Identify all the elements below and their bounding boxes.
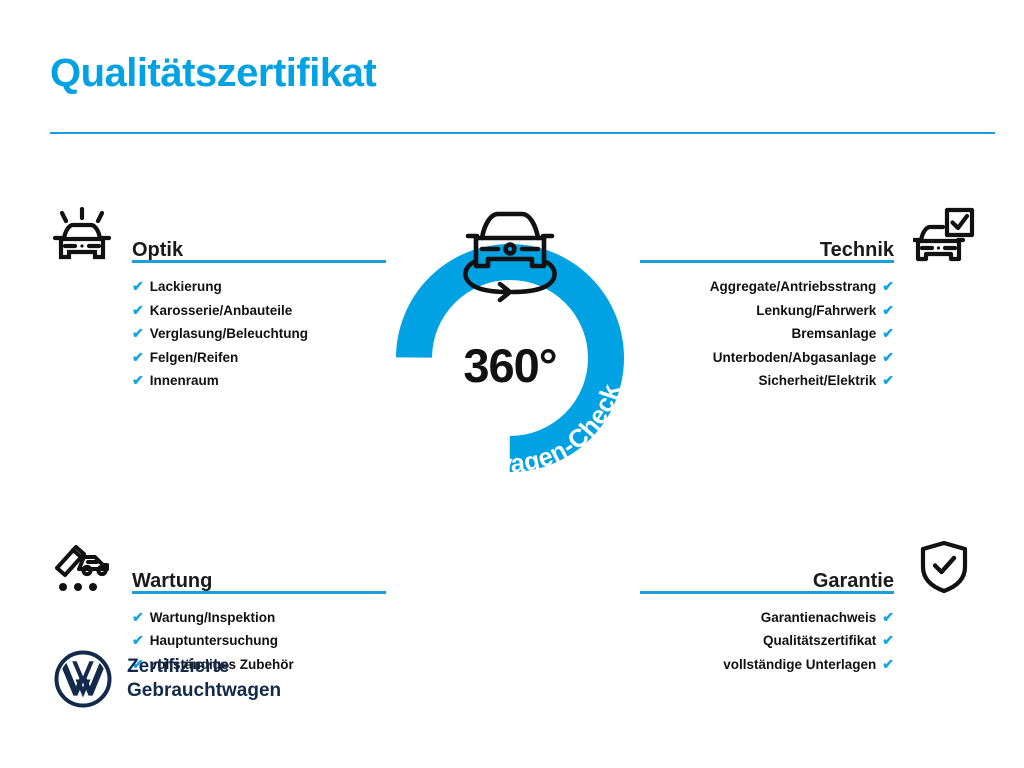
list-item: ✔ Innenraum: [132, 369, 386, 393]
brand-text: Zertifizierte Gebrauchtwagen: [127, 655, 281, 703]
list-item-label: Karosserie/Anbauteile: [150, 299, 293, 323]
list-item-label: vollständige Unterlagen: [723, 653, 876, 677]
list-item: Garantienachweis ✔: [640, 606, 894, 630]
list-item-label: Sicherheit/Elektrik: [758, 369, 876, 393]
check-icon: ✔: [132, 369, 144, 393]
car-front-checkbox-icon: [908, 205, 980, 267]
list-item: Bremsanlage ✔: [640, 322, 894, 346]
list-item: Lenkung/Fahrwerk ✔: [640, 299, 894, 323]
list-item-label: Lackierung: [150, 275, 222, 299]
list-item: Sicherheit/Elektrik ✔: [640, 369, 894, 393]
volkswagen-logo-icon: [54, 650, 112, 708]
badge-360-gebrauchtwagen-check: Gebrauchtwagen-Check 360°: [370, 190, 650, 490]
list-item-label: Garantienachweis: [761, 606, 877, 630]
section-header-technik: Technik: [640, 205, 894, 261]
shield-check-icon: [908, 536, 980, 598]
list-item-label: Wartung/Inspektion: [150, 606, 276, 630]
checklist-garantie: Garantienachweis ✔ Qualitätszertifikat ✔…: [640, 606, 894, 677]
list-item-label: Unterboden/Abgasanlage: [713, 346, 877, 370]
section-header-wartung: Wartung: [132, 536, 386, 592]
header-divider: [50, 132, 995, 134]
list-item: vollständige Unterlagen ✔: [640, 653, 894, 677]
check-icon: ✔: [882, 606, 894, 630]
list-item: ✔ Lackierung: [132, 275, 386, 299]
check-icon: ✔: [132, 606, 144, 630]
section-divider: [640, 260, 894, 263]
list-item-label: Qualitätszertifikat: [763, 629, 876, 653]
section-title: Optik: [132, 205, 386, 261]
section-header-garantie: Garantie: [640, 536, 894, 592]
check-icon: ✔: [132, 346, 144, 370]
section-optik: Optik ✔ Lackierung ✔ Karosserie/Anbautei…: [46, 205, 386, 393]
check-icon: ✔: [132, 275, 144, 299]
section-technik: Technik Aggregate/Antriebsstrang ✔ Lenku…: [640, 205, 980, 393]
section-header-optik: Optik: [132, 205, 386, 261]
check-icon: ✔: [132, 299, 144, 323]
check-icon: ✔: [882, 653, 894, 677]
left-column: Optik ✔ Lackierung ✔ Karosserie/Anbautei…: [46, 205, 386, 676]
certificate-page: Qualitätszertifikat: [0, 0, 1024, 768]
check-icon: ✔: [132, 322, 144, 346]
check-icon: ✔: [132, 629, 144, 653]
brand-line-1: Zertifizierte: [127, 655, 281, 679]
list-item-label: Hauptuntersuchung: [150, 629, 278, 653]
badge-value: 360°: [370, 338, 650, 393]
list-item-label: Verglasung/Beleuchtung: [150, 322, 308, 346]
list-item: ✔ Verglasung/Beleuchtung: [132, 322, 386, 346]
checklist-optik: ✔ Lackierung ✔ Karosserie/Anbauteile ✔ V…: [132, 275, 386, 393]
check-icon: ✔: [882, 629, 894, 653]
list-item-label: Felgen/Reifen: [150, 346, 239, 370]
section-title: Wartung: [132, 536, 386, 592]
section-divider: [132, 591, 386, 594]
list-item-label: Bremsanlage: [791, 322, 876, 346]
section-divider: [132, 260, 386, 263]
list-item: Unterboden/Abgasanlage ✔: [640, 346, 894, 370]
right-column: Technik Aggregate/Antriebsstrang ✔ Lenku…: [640, 205, 980, 676]
list-item-label: Lenkung/Fahrwerk: [756, 299, 876, 323]
list-item: ✔ Felgen/Reifen: [132, 346, 386, 370]
list-item: Aggregate/Antriebsstrang ✔: [640, 275, 894, 299]
list-item: ✔ Karosserie/Anbauteile: [132, 299, 386, 323]
list-item: ✔ Hauptuntersuchung: [132, 629, 386, 653]
brand-line-2: Gebrauchtwagen: [127, 679, 281, 703]
checklist-technik: Aggregate/Antriebsstrang ✔ Lenkung/Fahrw…: [640, 275, 894, 393]
list-item-label: Aggregate/Antriebsstrang: [710, 275, 877, 299]
list-item: ✔ Wartung/Inspektion: [132, 606, 386, 630]
car-front-shine-icon: [46, 205, 118, 267]
list-item: Qualitätszertifikat ✔: [640, 629, 894, 653]
section-title: Garantie: [640, 536, 894, 592]
section-divider: [640, 591, 894, 594]
section-garantie: Garantie Garantienachweis ✔ Qualitätszer…: [640, 536, 980, 677]
check-icon: ✔: [882, 275, 894, 299]
check-icon: ✔: [882, 346, 894, 370]
check-icon: ✔: [882, 299, 894, 323]
car-service-pencil-icon: [46, 536, 118, 598]
check-icon: ✔: [882, 322, 894, 346]
check-icon: ✔: [882, 369, 894, 393]
page-title: Qualitätszertifikat: [50, 52, 376, 94]
list-item-label: Innenraum: [150, 369, 219, 393]
brand-lockup: Zertifizierte Gebrauchtwagen: [54, 650, 281, 708]
section-title: Technik: [640, 205, 894, 261]
